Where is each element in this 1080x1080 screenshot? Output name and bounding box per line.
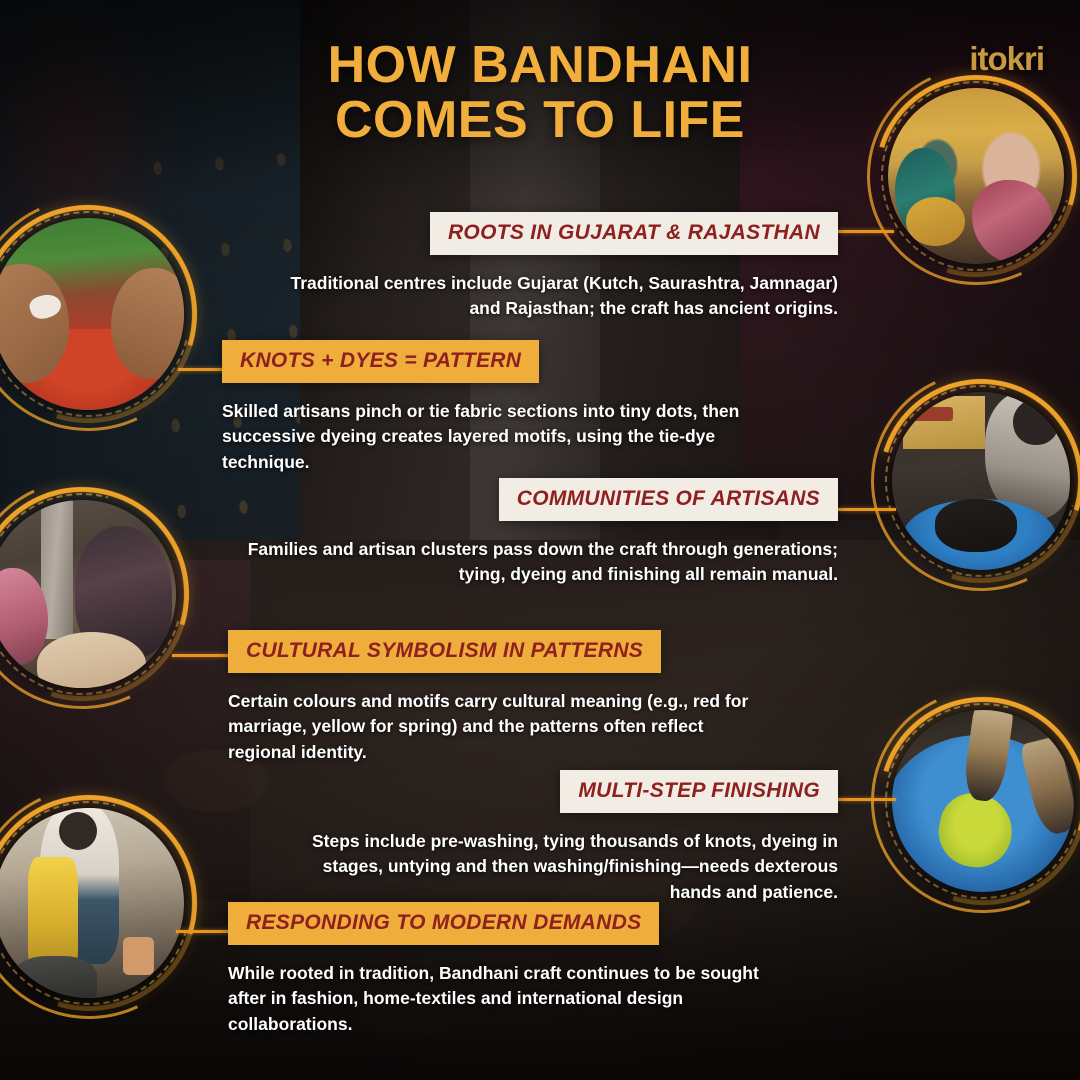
section-roots-body: Traditional centres include Gujarat (Kut… [278, 271, 838, 322]
photo-indigo-vat [892, 710, 1074, 892]
connector-line-communities [838, 508, 896, 511]
photo-frame [888, 88, 1064, 264]
photo-frame [892, 392, 1070, 570]
section-symbolism-heading[interactable]: CULTURAL SYMBOLISM IN PATTERNS [228, 630, 661, 673]
page-title: HOW BANDHANI COMES TO LIFE [230, 38, 850, 148]
section-modern-heading[interactable]: RESPONDING TO MODERN DEMANDS [228, 902, 659, 945]
connector-line-modern [176, 930, 230, 933]
section-finishing: MULTI-STEP FINISHING Steps include pre-w… [278, 770, 838, 905]
photo-women-tying-knots [888, 88, 1064, 264]
photo-frame [0, 808, 184, 998]
section-knots-body: Skilled artisans pinch or tie fabric sec… [222, 399, 752, 475]
section-finishing-heading[interactable]: MULTI-STEP FINISHING [560, 770, 838, 813]
section-symbolism: CULTURAL SYMBOLISM IN PATTERNS Certain c… [228, 630, 768, 765]
photo-hands-tying-red [0, 218, 184, 410]
photo-women-artisans [0, 500, 176, 688]
connector-line-roots [838, 230, 894, 233]
photo-lifting-yellow-cloth [0, 808, 184, 998]
section-communities-heading[interactable]: COMMUNITIES OF ARTISANS [499, 478, 838, 521]
section-modern: RESPONDING TO MODERN DEMANDS While roote… [228, 902, 788, 1037]
section-roots-heading[interactable]: ROOTS IN GUJARAT & RAJASTHAN [430, 212, 838, 255]
section-modern-body: While rooted in tradition, Bandhani craf… [228, 961, 788, 1037]
section-communities-body: Families and artisan clusters pass down … [238, 537, 838, 588]
page-title-line-2: COMES TO LIFE [230, 93, 850, 148]
section-knots-heading[interactable]: KNOTS + DYES = PATTERN [222, 340, 539, 383]
section-knots: KNOTS + DYES = PATTERN Skilled artisans … [222, 340, 752, 475]
page-title-line-1: HOW BANDHANI [230, 38, 850, 93]
connector-line-finishing [838, 798, 896, 801]
connector-line-symbolism [172, 654, 230, 657]
photo-frame [0, 218, 184, 410]
photo-dyer-blue-basin [892, 392, 1070, 570]
photo-frame [892, 710, 1074, 892]
section-roots: ROOTS IN GUJARAT & RAJASTHAN Traditional… [278, 212, 838, 322]
section-finishing-body: Steps include pre-washing, tying thousan… [278, 829, 838, 905]
section-communities: COMMUNITIES OF ARTISANS Families and art… [238, 478, 838, 588]
section-symbolism-body: Certain colours and motifs carry cultura… [228, 689, 768, 765]
photo-frame [0, 500, 176, 688]
